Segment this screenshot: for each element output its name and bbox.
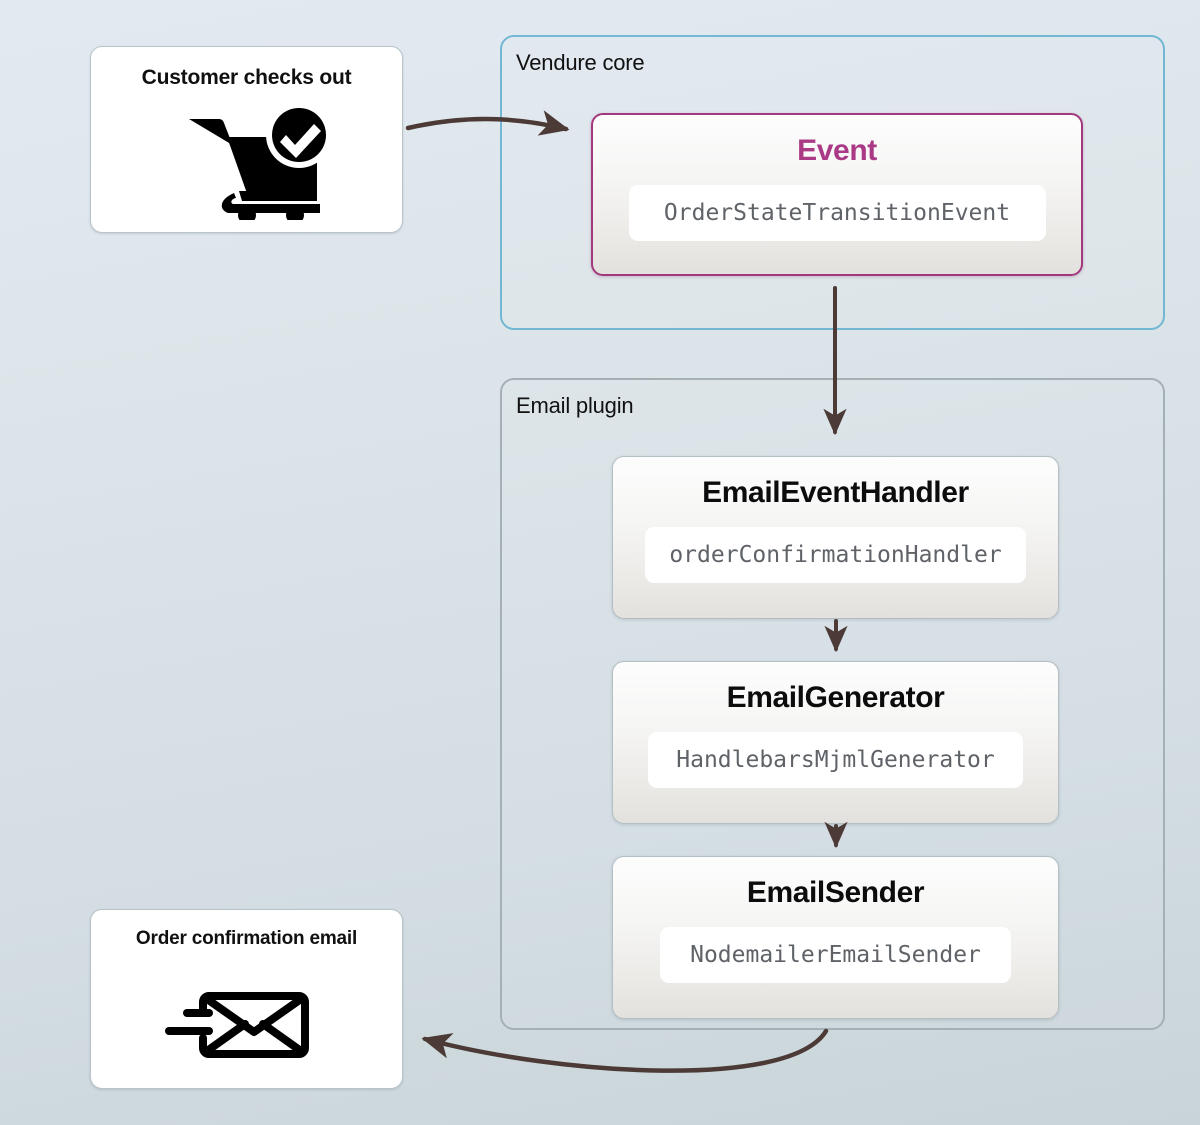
node-email-sender[interactable]: EmailSender NodemailerEmailSender (612, 856, 1059, 1019)
diagram-canvas: Vendure core Email plugin Customer check… (0, 0, 1200, 1125)
node-email-generator-title: EmailGenerator (727, 683, 945, 713)
sent-envelope-icon (91, 962, 404, 1082)
edge-sender-to-email (425, 1031, 826, 1071)
node-event-code: OrderStateTransitionEvent (629, 185, 1046, 241)
node-email-sender-title: EmailSender (747, 878, 924, 908)
node-email-generator[interactable]: EmailGenerator HandlebarsMjmlGenerator (612, 661, 1059, 824)
group-label-email-plugin: Email plugin (516, 393, 633, 419)
node-email-generator-code: HandlebarsMjmlGenerator (648, 732, 1023, 788)
node-email-event-handler-title: EmailEventHandler (702, 478, 969, 508)
node-email-event-handler[interactable]: EmailEventHandler orderConfirmationHandl… (612, 456, 1059, 619)
node-event[interactable]: Event OrderStateTransitionEvent (591, 113, 1083, 276)
node-event-title: Event (797, 136, 877, 166)
end-box-order-confirmation-email: Order confirmation email (90, 909, 403, 1089)
shopping-cart-check-icon (91, 105, 404, 220)
node-email-event-handler-code: orderConfirmationHandler (645, 527, 1026, 583)
group-label-vendure-core: Vendure core (516, 50, 644, 76)
end-box-caption: Order confirmation email (91, 928, 402, 950)
start-box-caption: Customer checks out (91, 66, 402, 90)
node-email-sender-code: NodemailerEmailSender (660, 927, 1011, 983)
start-box-customer-checks-out: Customer checks out (90, 46, 403, 233)
